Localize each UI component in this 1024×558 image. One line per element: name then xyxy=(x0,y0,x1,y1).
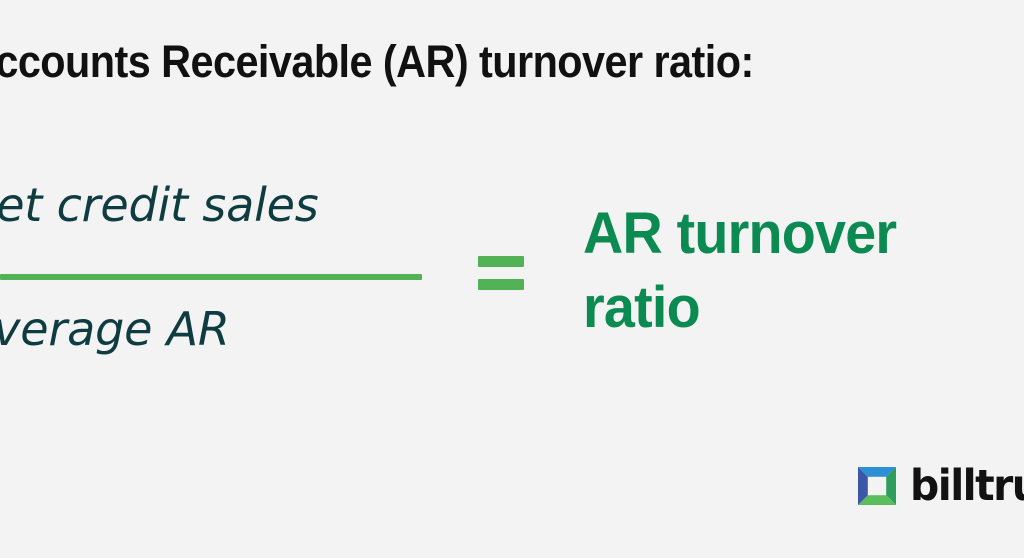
billtrust-wordmark: billtrust xyxy=(910,463,1024,509)
equals-bar-top xyxy=(478,256,524,267)
result-line-2: ratio xyxy=(583,271,1024,345)
fraction-numerator: Net credit sales xyxy=(0,176,482,234)
formula-result: AR turnover ratio xyxy=(583,197,1024,345)
equals-sign-icon xyxy=(478,256,524,292)
slide-canvas: Accounts Receivable (AR) turnover ratio:… xyxy=(0,0,1024,558)
result-line-1: AR turnover xyxy=(583,197,1024,271)
page-title: Accounts Receivable (AR) turnover ratio: xyxy=(0,34,978,90)
brand-logo: billtrust xyxy=(858,462,1024,510)
equals-bar-bottom xyxy=(478,279,524,290)
billtrust-cube-icon xyxy=(858,467,896,505)
formula-fraction: Net credit sales Average AR xyxy=(0,170,430,380)
fraction-denominator: Average AR xyxy=(0,300,482,358)
fraction-bar xyxy=(0,274,422,280)
